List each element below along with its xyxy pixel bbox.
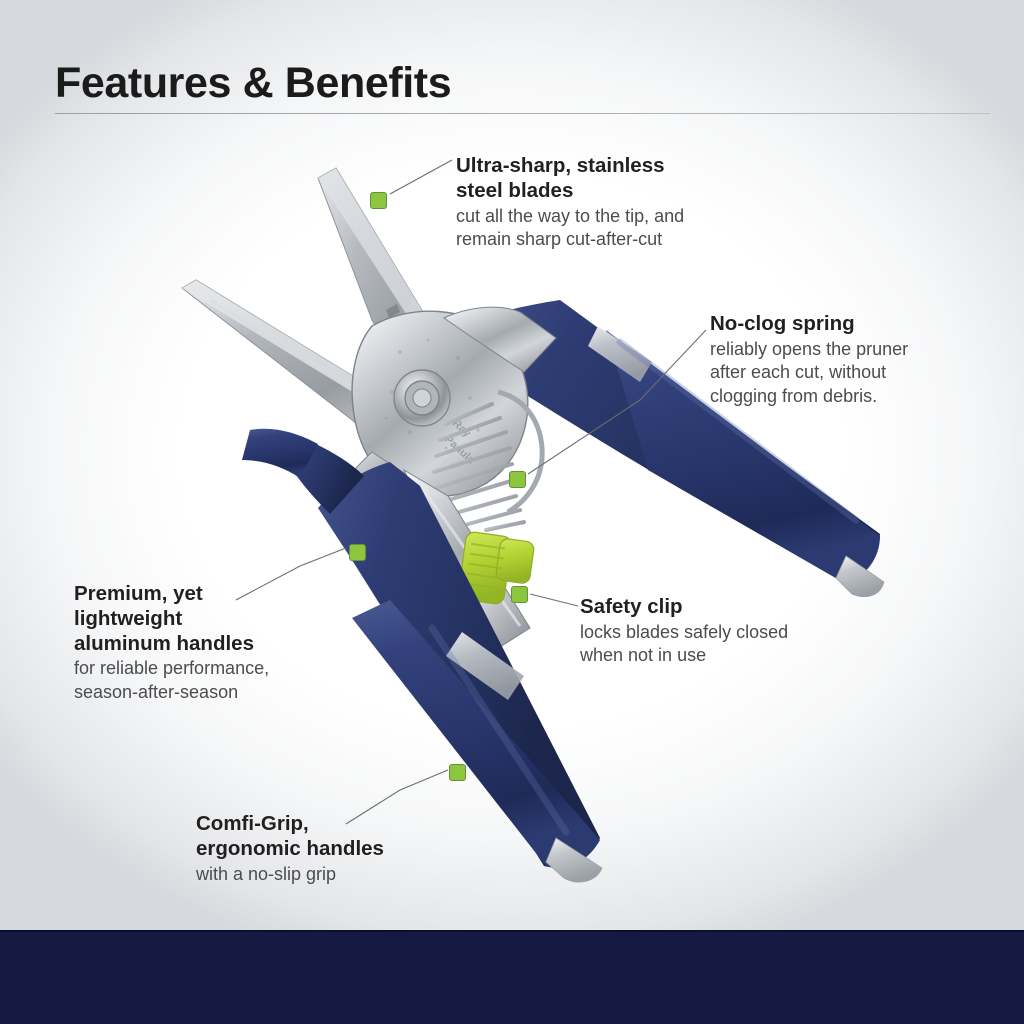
marker-spring[interactable]: [509, 471, 526, 488]
callout-blades-title: Ultra-sharp, stainless steel blades: [456, 154, 756, 204]
callout-comfi-grip: Comfi-Grip, ergonomic handles with a no-…: [196, 812, 496, 886]
callout-blades-body: cut all the way to the tip, and remain s…: [456, 205, 756, 252]
blade-lower: [182, 280, 430, 462]
callout-blades: Ultra-sharp, stainless steel blades cut …: [456, 154, 756, 251]
marker-aluminum[interactable]: [349, 544, 366, 561]
page-title: Features & Benefits: [55, 62, 451, 105]
callout-aluminum: Premium, yet lightweight aluminum handle…: [74, 582, 364, 704]
callout-safety-clip: Safety clip locks blades safely closed w…: [580, 595, 860, 668]
callout-aluminum-body: for reliable performance, season-after-s…: [74, 657, 364, 704]
no-clog-spring: [434, 404, 524, 530]
callout-comfi-grip-body: with a no-slip grip: [196, 863, 496, 886]
spring-housing: [498, 392, 542, 512]
header: Features & Benefits: [0, 0, 1024, 120]
callout-comfi-grip-title: Comfi-Grip, ergonomic handles: [196, 812, 496, 862]
callout-aluminum-title: Premium, yet lightweight aluminum handle…: [74, 582, 364, 656]
lower-aluminum-bar: [404, 470, 530, 652]
marker-blades[interactable]: [370, 192, 387, 209]
callout-spring: No-clog spring reliably opens the pruner…: [710, 312, 980, 408]
marker-comfi-grip[interactable]: [449, 764, 466, 781]
leader-line-safety-clip: [530, 594, 578, 606]
leader-line-spring: [528, 330, 706, 474]
marker-safety-clip[interactable]: [511, 586, 528, 603]
infographic-page: Features & Benefits: [0, 0, 1024, 1024]
leader-line-blades: [390, 160, 452, 194]
callout-safety-clip-title: Safety clip: [580, 595, 860, 620]
callout-safety-clip-body: locks blades safely closed when not in u…: [580, 621, 860, 668]
svg-text:Padula: Padula: [442, 433, 477, 467]
callout-spring-body: reliably opens the pruner after each cut…: [710, 338, 980, 408]
blade-upper: [318, 168, 470, 418]
pruner-head: Ray Padula: [326, 307, 556, 540]
brand-mark-text: Ray: [450, 417, 474, 440]
bottom-banner: [0, 930, 1024, 1024]
title-divider: [55, 113, 990, 114]
callout-spring-title: No-clog spring: [710, 312, 980, 337]
